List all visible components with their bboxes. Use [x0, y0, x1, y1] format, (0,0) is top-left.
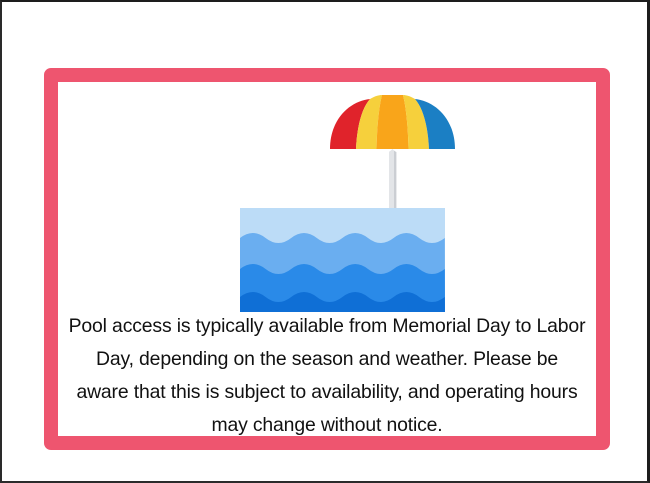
pool-access-notice-text: Pool access is typically available from … — [68, 310, 586, 442]
pool-illustration — [58, 86, 596, 312]
notice-card-inner: Pool access is typically available from … — [58, 82, 596, 436]
page-canvas: Pool access is typically available from … — [0, 0, 650, 483]
pool-and-umbrella-graphic — [59, 86, 595, 312]
pool-access-notice-card: Pool access is typically available from … — [44, 68, 610, 450]
beach-umbrella-canopy-icon — [330, 95, 455, 153]
swimming-pool-icon — [240, 208, 445, 312]
